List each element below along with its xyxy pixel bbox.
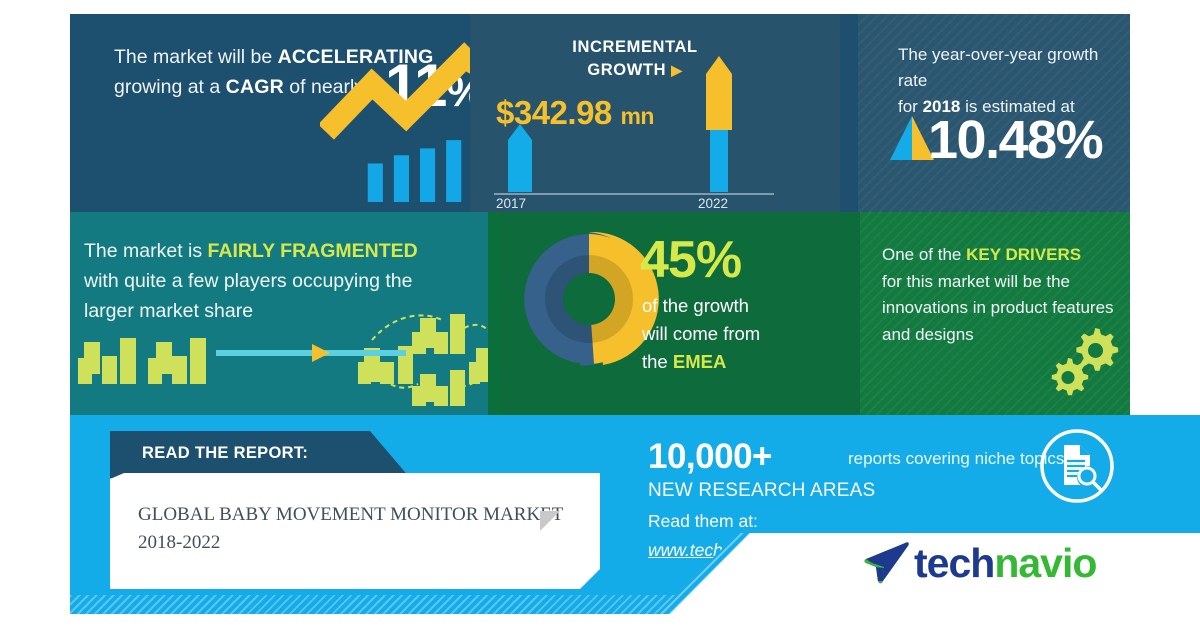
report-title-line2: 2018-2022 [138,532,220,553]
read-the-report-label: READ THE REPORT: [142,444,308,463]
fragmented-pre: The market is [84,240,208,262]
emea-text: of the growth will come from the EMEA [642,292,852,376]
reports-note: reports covering niche topics [848,449,1064,469]
report-title-card: GLOBAL BABY MOVEMENT MONITOR MARKET 2018… [110,473,600,589]
emea-percent-value: 45% [640,234,741,286]
yoy-value: 10.48% [928,109,1102,171]
incremental-year-start: 2017 [496,196,526,211]
panel-incremental-growth: INCREMENTAL GROWTH ▶ $342.98 mn 2017 202… [470,14,858,212]
document-search-icon [1038,427,1116,505]
yoy-line1: The year-over-year growth rate [898,45,1098,90]
report-title-text: GLOBAL BABY MOVEMENT MONITOR MARKET 2018… [138,501,578,557]
drivers-line4: and designs [882,325,974,344]
read-them-at-label: Read them at: [648,511,758,532]
read-the-report-tag: READ THE REPORT: [110,431,410,478]
row-middle: The market is FAIRLY FRAGMENTED with qui… [70,212,1130,415]
logo-text-navio: navio [994,543,1096,584]
accelerating-bold-cagr: CAGR [226,76,284,98]
infographic-page: The market will be ACCELERATING growing … [0,0,1200,627]
panel-key-drivers: One of the KEY DRIVERS for this market w… [860,212,1130,415]
panel-yoy-growth: The year-over-year growth rate for 2018 … [858,14,1130,212]
drivers-line2: for this market will be the [882,272,1070,291]
logo-text-tech: tech [914,543,994,584]
accelerating-text-mid: growing at a [114,76,226,98]
panel-emea: 45% of the growth will come from the EME… [500,212,860,415]
incremental-growth-bars-icon [490,44,790,196]
gears-icon [1048,324,1120,400]
technavio-logo: technavio [862,540,1096,586]
panel-fragmented: The market is FAIRLY FRAGMENTED with qui… [70,212,488,415]
reports-count: 10,000+ [648,437,772,477]
technavio-arrow-icon [862,541,914,585]
accelerating-text-pre: The market will be [114,46,278,68]
emea-region: EMEA [673,351,726,372]
city-buildings-network-icon [76,312,488,412]
drivers-pre: One of the [882,245,966,264]
emea-line1: of the growth [642,295,749,316]
emea-line3-pre: the [642,351,673,372]
emea-line2: will come from [642,323,760,344]
panel-divider-green [488,212,500,415]
incremental-axis-line [494,193,774,195]
row-top: The market will be ACCELERATING growing … [70,14,1130,212]
drivers-bold: KEY DRIVERS [966,245,1081,264]
report-title-line1: GLOBAL BABY MOVEMENT MONITOR MARKET [138,504,563,525]
incremental-year-end: 2022 [698,196,728,211]
drivers-line3: innovations in product features [882,298,1114,317]
new-research-areas-label: NEW RESEARCH AREAS [648,480,875,502]
fragmented-bold: FAIRLY FRAGMENTED [208,240,418,262]
fragmented-line2: with quite a few players occupying the [84,270,412,292]
